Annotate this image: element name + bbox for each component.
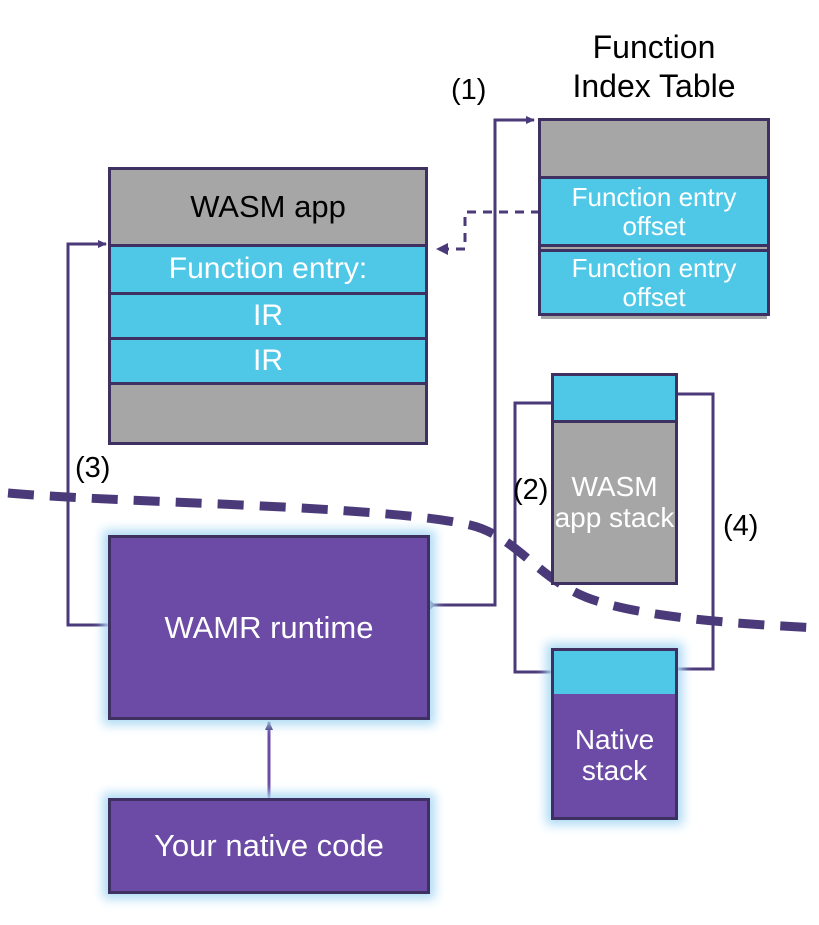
wasm-app-empty-bottom [111,382,425,442]
native-stack[interactable]: Native stack [551,648,678,820]
wasm-app-row-1-label: IR [253,300,283,332]
wasm-app-row-ir-2[interactable]: IR [111,337,425,382]
diagram-canvas: Function Index Table (1) (2) (3) (4) Fun… [0,0,819,925]
wasm-app-row-0-label: Function entry: [169,253,367,285]
wamr-runtime-label: WAMR runtime [165,611,374,644]
wamr-runtime[interactable]: WAMR runtime [108,535,430,720]
step-label-3: (3) [75,452,110,485]
wasm-app-header-label: WASM app [190,190,346,223]
wasm-app-stack-body: WASM app stack [554,420,675,582]
arrow-step-3 [68,244,110,625]
fit-divider-0 [541,244,767,252]
wasm-app-stack-line1: WASM [571,472,657,502]
wasm-app-header: WASM app [111,170,425,244]
wasm-app[interactable]: WASM app Function entry: IR IR [108,167,428,445]
fit-entry-0-line2: offset [622,212,685,240]
fit-entry-1-line2: offset [622,283,685,311]
wasm-app-stack-top-band[interactable] [554,376,675,420]
wasm-app-stack[interactable]: WASM app stack [551,373,678,585]
step-label-2: (2) [513,474,548,507]
native-stack-top-band[interactable] [554,651,675,694]
fit-empty-slot-top [541,121,767,176]
function-index-table-title-line2: Index Table [538,67,770,106]
fit-entry-1[interactable]: Function entry offset [541,252,767,313]
fit-entry-1-line1: Function entry [572,254,737,282]
wasm-app-row-function-entry[interactable]: Function entry: [111,244,425,292]
your-native-code-label: Your native code [154,829,384,862]
function-index-table[interactable]: Function entry offset Function entry off… [538,118,770,316]
step-label-4: (4) [723,510,758,543]
function-index-table-title: Function Index Table [538,28,770,106]
fit-entry-0[interactable]: Function entry offset [541,176,767,244]
fit-entry-0-line1: Function entry [572,183,737,211]
fit-divider-1 [541,313,767,319]
native-stack-line2: stack [582,756,647,786]
native-stack-body: Native stack [554,694,675,817]
function-index-table-title-line1: Function [538,28,770,67]
native-stack-line1: Native [575,725,654,755]
your-native-code[interactable]: Your native code [108,798,430,894]
wasm-app-row-2-label: IR [253,345,283,377]
wasm-app-stack-line2: app stack [555,503,675,533]
wasm-app-row-ir-1[interactable]: IR [111,292,425,337]
step-label-1: (1) [451,74,486,107]
